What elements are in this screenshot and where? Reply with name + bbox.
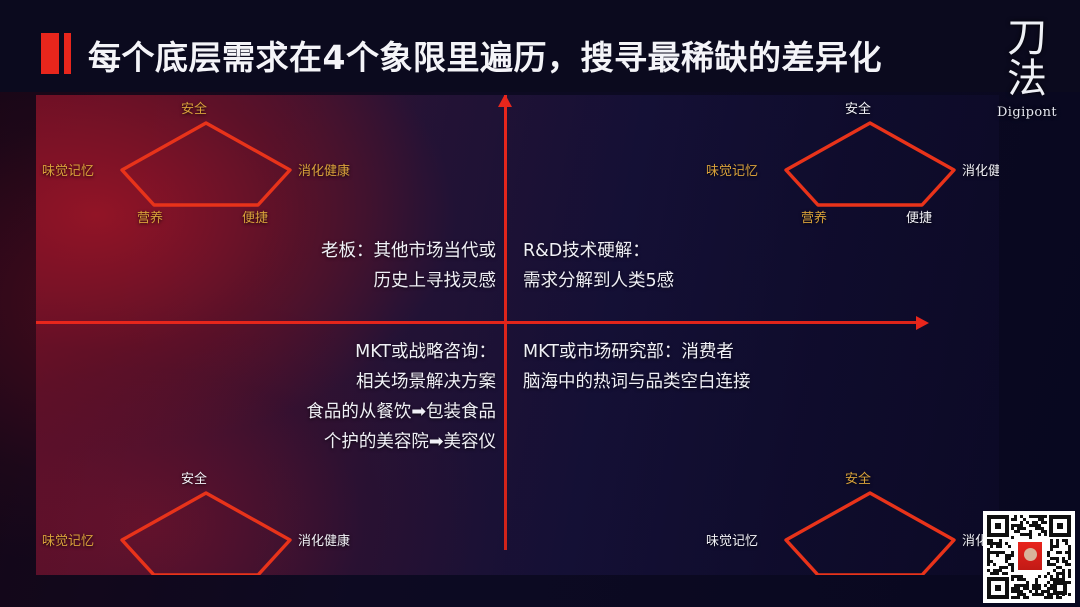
pentagon-label-left: 味觉记忆 [706,530,758,549]
quadrant-text-top-left: 老板：其他市场当代或 历史上寻找灵感 [321,236,496,296]
pentagon-shape [780,487,960,575]
quadrant-line: 个护的美容院➡美容仪 [306,427,496,457]
vertical-axis-arrow-icon [498,95,512,107]
quadrant-line: 老板：其他市场当代或 [321,236,496,266]
pentagon-label-left: 味觉记忆 [706,160,758,179]
pentagon-chart-bottom-left: 安全 味觉记忆 消化健康 营养 便捷 [116,487,296,575]
quadrant-line: 脑海中的热词与品类空白连接 [523,367,751,397]
pentagon-chart-top-right: 安全 味觉记忆 消化健康 营养 便捷 [780,117,960,207]
slide-canvas: 每个底层需求在4个象限里遍历，搜寻最稀缺的差异化 刀法 Digipont 老板：… [0,0,1080,607]
qr-finder-top-right [1049,515,1071,537]
pentagon-chart-bottom-right: 安全 味觉记忆 消化健康 营养 便捷 [780,487,960,575]
brand-logo: 刀法 Digipont [988,18,1066,120]
quadrant-text-bottom-right: MKT或市场研究部：消费者 脑海中的热词与品类空白连接 [523,337,751,397]
pentagon-label-right: 消化健康 [298,530,350,549]
quadrant-line: 需求分解到人类5感 [523,266,674,296]
pentagon-label-left: 味觉记忆 [42,160,94,179]
pentagon-label-top: 安全 [845,468,871,487]
quadrant-line: 相关场景解决方案 [306,367,496,397]
pentagon-label-top: 安全 [845,98,871,117]
pentagon-label-bottom-right: 便捷 [242,207,268,226]
qr-center-avatar [1017,541,1043,571]
title-accent-bar-thin [64,33,71,74]
pentagon-label-bottom-left: 营养 [801,207,827,226]
quadrant-text-bottom-left: MKT或战略咨询： 相关场景解决方案 食品的从餐饮➡包装食品 个护的美容院➡美容… [306,337,496,457]
quadrant-text-top-right: R&D技术硬解： 需求分解到人类5感 [523,236,674,296]
quadrant-panel: 老板：其他市场当代或 历史上寻找灵感 R&D技术硬解： 需求分解到人类5感 MK… [36,95,999,575]
pentagon-label-right: 消化健康 [298,160,350,179]
pentagon-chart-top-left: 安全 味觉记忆 消化健康 营养 便捷 [116,117,296,207]
qr-code-grid [987,515,1071,599]
quadrant-line: 食品的从餐饮➡包装食品 [306,397,496,427]
pentagon-label-top: 安全 [181,468,207,487]
pentagon-label-right: 消化健康 [962,160,999,179]
quadrant-line: 历史上寻找灵感 [321,266,496,296]
horizontal-axis-arrow-icon [916,316,929,330]
pentagon-label-left: 味觉记忆 [42,530,94,549]
pentagon-shape [780,117,960,207]
pentagon-shape [116,117,296,207]
quadrant-line: R&D技术硬解： [523,236,674,266]
qr-code[interactable] [983,511,1075,603]
pentagon-label-bottom-left: 营养 [137,207,163,226]
qr-alignment-marker [1053,581,1067,595]
qr-finder-bottom-left [987,577,1009,599]
title-accent-marks [41,33,71,74]
page-title: 每个底层需求在4个象限里遍历，搜寻最稀缺的差异化 [88,31,882,79]
horizontal-axis [36,321,920,324]
brand-logo-cn: 刀法 [988,18,1066,100]
brand-logo-en: Digipont [988,105,1066,120]
slide-header: 每个底层需求在4个象限里遍历，搜寻最稀缺的差异化 [0,0,1080,92]
pentagon-label-top: 安全 [181,98,207,117]
quadrant-line: MKT或战略咨询： [306,337,496,367]
title-accent-bar-wide [41,33,59,74]
pentagon-label-bottom-right: 便捷 [906,207,932,226]
pentagon-shape [116,487,296,575]
qr-finder-top-left [987,515,1009,537]
quadrant-line: MKT或市场研究部：消费者 [523,337,751,367]
